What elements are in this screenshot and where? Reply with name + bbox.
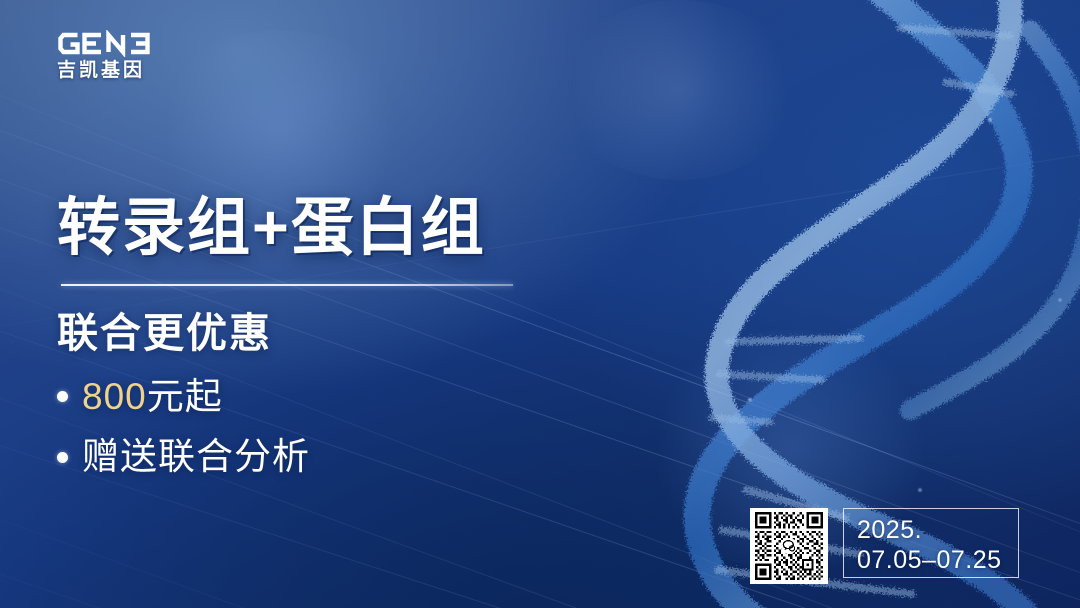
qr-code-icon <box>754 512 824 580</box>
wechat-qr-code[interactable] <box>750 508 828 584</box>
bullet-dot-icon <box>57 391 68 402</box>
benefit-text: 赠送联合分析 <box>82 436 310 479</box>
price-amount: 800 <box>82 376 147 417</box>
list-item: 赠送联合分析 <box>57 436 697 479</box>
date-line-2: 07.05–07.25 <box>857 546 1018 576</box>
gene-logo-icon <box>57 30 153 57</box>
benefit-text: 800元起 <box>82 376 223 419</box>
date-line-1: 2025. <box>857 516 1018 546</box>
title-divider <box>61 284 513 286</box>
brand-logo[interactable]: 吉凯基因 <box>57 30 153 80</box>
brand-name-cn: 吉凯基因 <box>57 61 153 80</box>
list-item: 800元起 <box>57 376 697 419</box>
glow-bloom <box>560 0 800 180</box>
page-title: 转录组+蛋白组 <box>57 196 697 262</box>
bullet-dot-icon <box>57 452 68 463</box>
promo-content: 转录组+蛋白组 联合更优惠 800元起 赠送联合分析 <box>57 196 697 479</box>
benefit-list: 800元起 赠送联合分析 <box>57 376 697 479</box>
subheading: 联合更优惠 <box>57 311 697 356</box>
promo-date-badge: 2025. 07.05–07.25 <box>843 508 1019 578</box>
price-unit: 元起 <box>147 376 223 417</box>
promo-banner: 吉凯基因 转录组+蛋白组 联合更优惠 800元起 赠送联合分析 <box>0 0 1080 608</box>
